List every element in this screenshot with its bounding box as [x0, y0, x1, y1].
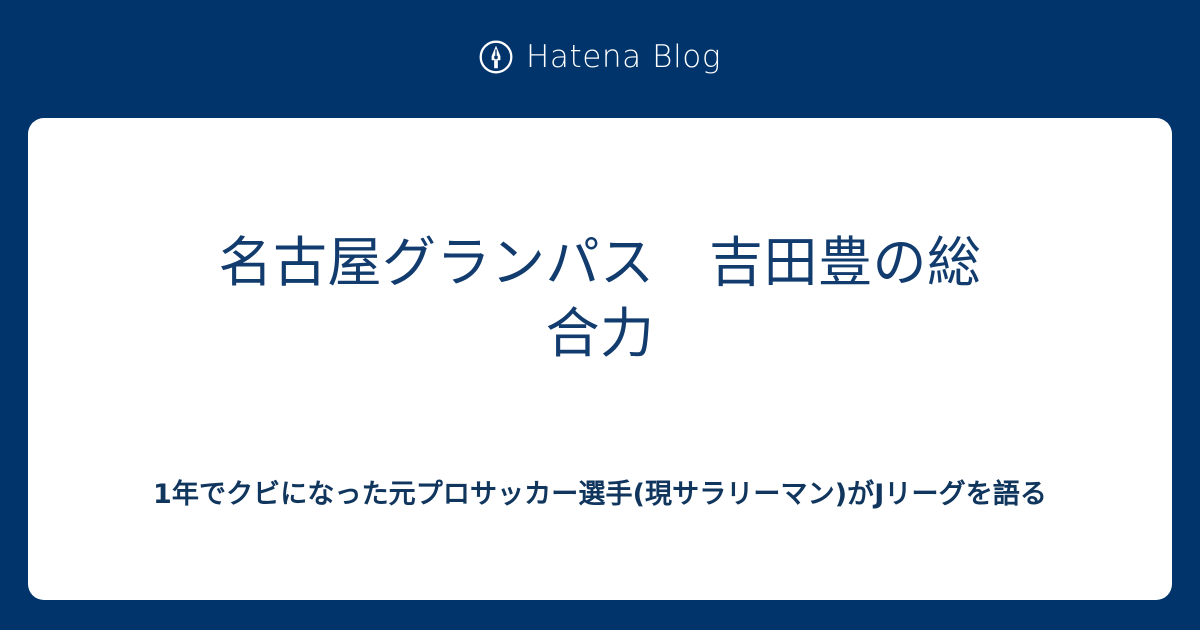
hatena-blog-logo[interactable]: Hatena Blog	[479, 40, 721, 74]
hatena-pen-nib-icon	[479, 40, 513, 74]
hatena-blog-wordmark: Hatena Blog	[526, 42, 721, 73]
og-image-canvas: Hatena Blog 名古屋グランパス 吉田豊の総合力 1年でクビになった元プ…	[0, 0, 1200, 630]
hatena-blog-brand-bar: Hatena Blog	[0, 0, 1200, 118]
entry-card: 名古屋グランパス 吉田豊の総合力 1年でクビになった元プロサッカー選手(現サラリ…	[28, 118, 1172, 600]
entry-title: 名古屋グランパス 吉田豊の総合力	[218, 227, 983, 370]
entry-title-container: 名古屋グランパス 吉田豊の総合力	[28, 118, 1172, 478]
blog-description: 1年でクビになった元プロサッカー選手(現サラリーマン)がJリーグを語る	[153, 478, 1047, 512]
blog-description-container: 1年でクビになった元プロサッカー選手(現サラリーマン)がJリーグを語る	[28, 478, 1172, 600]
